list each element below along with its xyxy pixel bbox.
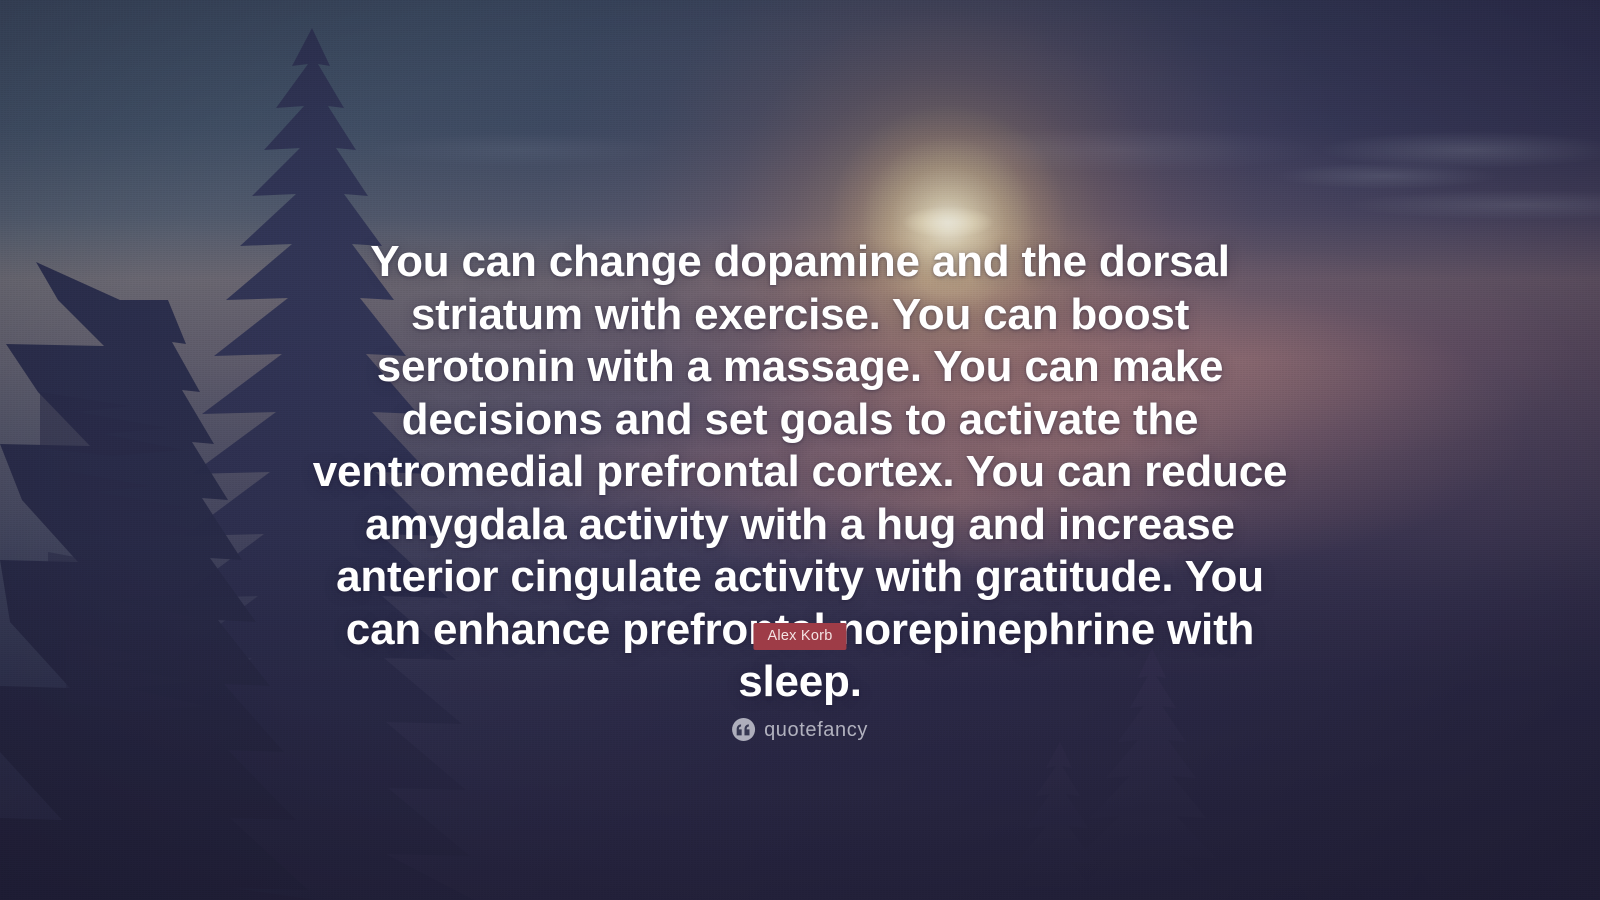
quote-image-canvas: You can change dopamine and the dorsal s… <box>0 0 1600 900</box>
quote-author-badge: Alex Korb <box>753 623 846 650</box>
quotefancy-wordmark: quotefancy <box>764 720 868 740</box>
quote-marks-icon <box>732 718 755 741</box>
quotefancy-brand-logo[interactable]: quotefancy <box>732 718 868 741</box>
quote-content: You can change dopamine and the dorsal s… <box>0 0 1600 900</box>
